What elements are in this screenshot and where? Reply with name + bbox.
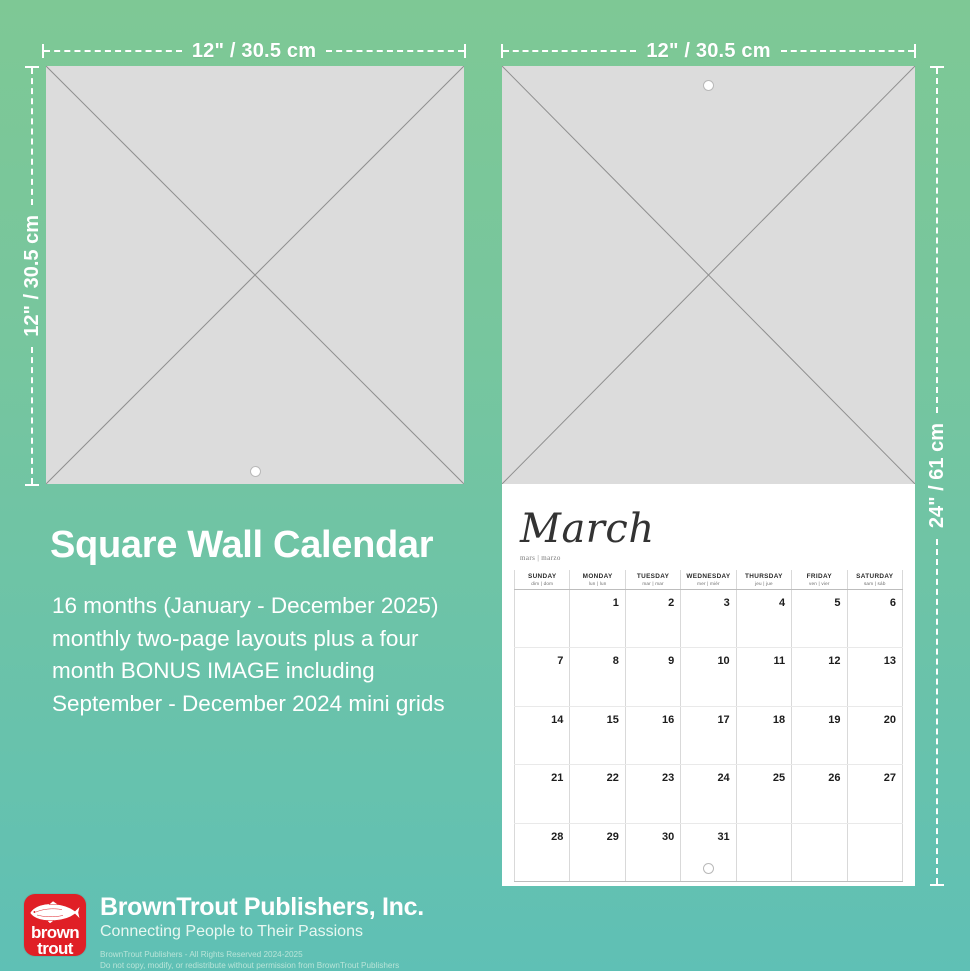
dimension-dash-bottom	[31, 347, 33, 484]
calendar-day-cell[interactable]: 11	[736, 648, 791, 707]
calendar-day-cell[interactable]: 17	[681, 706, 736, 765]
dimension-dash-left	[44, 50, 182, 52]
calendar-day-number: 27	[884, 772, 896, 784]
calendar-day-cell[interactable]: 5	[792, 589, 847, 648]
calendar-month-translations: mars | marzo	[520, 554, 915, 562]
calendar-day-cell[interactable]	[515, 589, 570, 648]
calendar-day-number: 24	[717, 772, 729, 784]
description-line: September - December 2024 mini grids	[52, 688, 502, 721]
calendar-day-cell[interactable]: 25	[736, 765, 791, 824]
dimension-dash-right	[326, 50, 464, 52]
calendar-day-number: 19	[828, 714, 840, 726]
day-header-sublabel: mar | mar	[626, 581, 680, 587]
logo-word-trout: trout	[24, 940, 86, 956]
calendar-day-cell[interactable]: 14	[515, 706, 570, 765]
calendar-day-cell[interactable]: 4	[736, 589, 791, 648]
calendar-day-cell[interactable]: 19	[792, 706, 847, 765]
calendar-day-cell[interactable]: 10	[681, 648, 736, 707]
day-header-sublabel: jeu | jue	[737, 581, 791, 587]
calendar-day-number: 17	[717, 714, 729, 726]
calendar-day-cell[interactable]: 6	[847, 589, 902, 648]
dimension-cap-right	[914, 44, 916, 58]
placeholder-cross-icon	[46, 66, 464, 484]
calendar-day-number: 7	[557, 655, 563, 667]
calendar-day-number: 2	[668, 597, 674, 609]
calendar-day-cell[interactable]: 22	[570, 765, 625, 824]
calendar-day-number: 30	[662, 831, 674, 843]
day-header-friday: FRIDAY ven | vier	[792, 570, 847, 589]
calendar-day-number: 20	[884, 714, 896, 726]
page-title: Square Wall Calendar	[50, 524, 433, 567]
calendar-day-cell[interactable]: 23	[625, 765, 680, 824]
calendar-day-number: 21	[551, 772, 563, 784]
calendar-header-row: SUNDAY dim | dom MONDAY lun | lun TUESDA…	[515, 570, 903, 589]
day-header-tuesday: TUESDAY mar | mar	[625, 570, 680, 589]
day-header-label: THURSDAY	[737, 573, 791, 581]
calendar-day-cell[interactable]	[736, 823, 791, 882]
calendar-day-number: 25	[773, 772, 785, 784]
dimension-cap-right	[464, 44, 466, 58]
calendar-day-cell[interactable]: 3	[681, 589, 736, 648]
calendar-month-name: March	[520, 509, 915, 549]
calendar-day-cell[interactable]: 9	[625, 648, 680, 707]
placeholder-cross-icon	[502, 66, 915, 484]
calendar-day-number: 15	[607, 714, 619, 726]
calendar-month-heading: March mars | marzo	[502, 484, 915, 562]
hanging-hole-icon	[703, 863, 714, 874]
calendar-day-cell[interactable]: 27	[847, 765, 902, 824]
day-header-sublabel: mer | miér	[681, 581, 735, 587]
hanging-hole-icon	[703, 80, 714, 91]
product-description: 16 months (January - December 2025) mont…	[52, 590, 502, 721]
dimension-dash-top	[31, 68, 33, 205]
copyright-line-1: BrownTrout Publishers - All Rights Reser…	[100, 949, 424, 960]
dimension-dash-top	[936, 68, 938, 413]
dimension-dash-right	[781, 50, 914, 52]
day-header-sublabel: dim | dom	[515, 581, 569, 587]
calendar-day-cell[interactable]: 20	[847, 706, 902, 765]
day-header-saturday: SATURDAY sam | sáb	[847, 570, 902, 589]
calendar-day-number: 22	[607, 772, 619, 784]
calendar-day-number: 6	[890, 597, 896, 609]
calendar-day-number: 9	[668, 655, 674, 667]
dimension-cap-bottom	[25, 484, 39, 486]
calendar-image-panel	[502, 66, 915, 484]
cover-image-panel	[46, 66, 464, 484]
calendar-day-number: 1	[613, 597, 619, 609]
calendar-day-cell[interactable]: 13	[847, 648, 902, 707]
calendar-day-cell[interactable]: 30	[625, 823, 680, 882]
calendar-day-cell[interactable]	[792, 823, 847, 882]
calendar-week-row: 7 8 9 10 11 12 13	[515, 648, 903, 707]
dimension-left-vertical: 12" / 30.5 cm	[20, 66, 44, 486]
brand-name: BrownTrout Publishers, Inc.	[100, 894, 424, 920]
day-header-monday: MONDAY lun | lun	[570, 570, 625, 589]
day-header-sublabel: lun | lun	[570, 581, 624, 587]
hanging-hole-icon	[250, 466, 261, 477]
day-header-label: SATURDAY	[848, 573, 902, 581]
calendar-day-number: 5	[834, 597, 840, 609]
calendar-week-row: 21 22 23 24 25 26 27	[515, 765, 903, 824]
calendar-day-number: 11	[773, 655, 785, 667]
calendar-day-number: 12	[828, 655, 840, 667]
description-line: month BONUS IMAGE including	[52, 655, 502, 688]
calendar-day-cell[interactable]: 2	[625, 589, 680, 648]
product-spec-sheet: 12" / 30.5 cm 12" / 30.5 cm 12" / 30.5 c…	[0, 0, 970, 971]
description-line: 16 months (January - December 2025)	[52, 590, 502, 623]
day-header-sunday: SUNDAY dim | dom	[515, 570, 570, 589]
footer-text-column: BrownTrout Publishers, Inc. Connecting P…	[100, 894, 424, 971]
day-header-label: TUESDAY	[626, 573, 680, 581]
dimension-dash-bottom	[936, 539, 938, 884]
calendar-day-cell[interactable]: 8	[570, 648, 625, 707]
dimension-cap-bottom	[930, 884, 944, 886]
dimension-left-vertical-label: 12" / 30.5 cm	[21, 205, 44, 347]
dimension-top-left-label: 12" / 30.5 cm	[182, 40, 326, 63]
calendar-day-number: 3	[724, 597, 730, 609]
day-header-label: WEDNESDAY	[681, 573, 735, 581]
dimension-top-right: 12" / 30.5 cm	[501, 40, 916, 62]
trout-fish-icon	[29, 900, 81, 924]
browntrout-logo[interactable]: brown trout	[24, 894, 86, 956]
calendar-day-cell[interactable]: 26	[792, 765, 847, 824]
calendar-day-number: 31	[717, 831, 729, 843]
day-header-sublabel: sam | sáb	[848, 581, 902, 587]
calendar-day-number: 8	[613, 655, 619, 667]
calendar-day-cell[interactable]: 7	[515, 648, 570, 707]
dimension-dash-left	[503, 50, 636, 52]
copyright-notice: BrownTrout Publishers - All Rights Reser…	[100, 949, 424, 971]
calendar-day-number: 28	[551, 831, 563, 843]
day-header-label: SUNDAY	[515, 573, 569, 581]
calendar-day-number: 16	[662, 714, 674, 726]
calendar-day-number: 13	[884, 655, 896, 667]
calendar-day-cell[interactable]: 28	[515, 823, 570, 882]
dimension-top-right-label: 12" / 30.5 cm	[636, 40, 780, 63]
calendar-day-number: 23	[662, 772, 674, 784]
day-header-sublabel: ven | vier	[792, 581, 846, 587]
calendar-day-number: 29	[607, 831, 619, 843]
calendar-day-number: 10	[717, 655, 729, 667]
calendar-day-cell[interactable]	[847, 823, 902, 882]
calendar-grid-page: March mars | marzo SUNDAY dim | dom MOND…	[502, 484, 915, 886]
calendar-day-cell[interactable]: 12	[792, 648, 847, 707]
day-header-thursday: THURSDAY jeu | jue	[736, 570, 791, 589]
calendar-table: SUNDAY dim | dom MONDAY lun | lun TUESDA…	[514, 570, 903, 882]
description-line: monthly two-page layouts plus a four	[52, 623, 502, 656]
calendar-day-cell[interactable]: 16	[625, 706, 680, 765]
day-header-label: MONDAY	[570, 573, 624, 581]
dimension-right-vertical: 24" / 61 cm	[925, 66, 949, 886]
calendar-day-cell[interactable]: 21	[515, 765, 570, 824]
dimension-right-vertical-label: 24" / 61 cm	[926, 413, 949, 538]
day-header-label: FRIDAY	[792, 573, 846, 581]
copyright-line-2: Do not copy, modify, or redistribute wit…	[100, 960, 424, 971]
calendar-day-number: 4	[779, 597, 785, 609]
calendar-day-number: 18	[773, 714, 785, 726]
calendar-week-row: 14 15 16 17 18 19 20	[515, 706, 903, 765]
brand-tagline: Connecting People to Their Passions	[100, 922, 424, 943]
calendar-day-cell[interactable]: 1	[570, 589, 625, 648]
calendar-day-cell[interactable]: 24	[681, 765, 736, 824]
calendar-day-cell[interactable]: 15	[570, 706, 625, 765]
dimension-top-left: 12" / 30.5 cm	[42, 40, 466, 62]
footer: brown trout BrownTrout Publishers, Inc. …	[24, 894, 494, 971]
day-header-wednesday: WEDNESDAY mer | miér	[681, 570, 736, 589]
calendar-week-row: 1 2 3 4 5 6	[515, 589, 903, 648]
calendar-day-cell[interactable]: 29	[570, 823, 625, 882]
calendar-day-number: 26	[828, 772, 840, 784]
calendar-day-number: 14	[551, 714, 563, 726]
calendar-day-cell[interactable]: 18	[736, 706, 791, 765]
